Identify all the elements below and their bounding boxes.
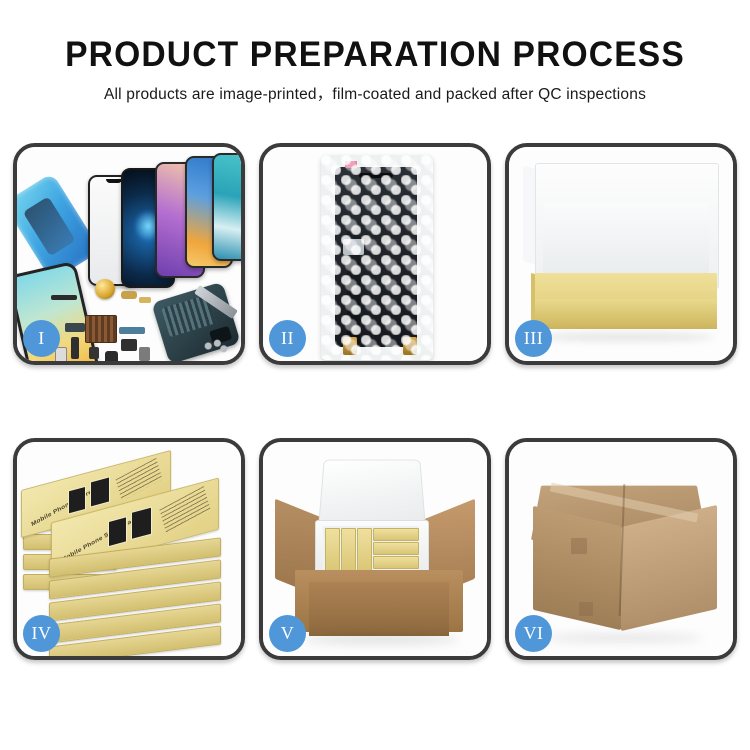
inner-box-2 [341, 528, 356, 574]
flex-cable-small [139, 297, 151, 303]
small-part-a [89, 347, 99, 359]
box-window-rear-2 [90, 476, 110, 507]
carton-front-face [309, 582, 449, 636]
bubble-highlight-texture [321, 155, 433, 360]
screws-group [203, 339, 229, 353]
small-part-b [105, 351, 118, 361]
step-badge-2: II [269, 320, 306, 357]
poster-root: PRODUCT PREPARATION PROCESS All products… [0, 0, 750, 750]
step-panel-3: III [505, 143, 737, 365]
inner-box-1 [325, 528, 340, 574]
step-badge-6: VI [515, 615, 552, 652]
foam-lid [318, 460, 426, 529]
phone-screen-teal [212, 153, 241, 261]
bubble-wrap-bag [321, 155, 433, 360]
step-badge-4: IV [23, 615, 60, 652]
drop-shadow [543, 634, 703, 642]
inner-box-5 [373, 542, 419, 555]
connector-part [65, 323, 85, 332]
chip-component [85, 315, 117, 343]
carton-tab-upper [571, 538, 587, 554]
foam-sheet [543, 203, 709, 277]
step-panel-1: I [13, 143, 245, 365]
step-panel-4: Mobile Phone Spare Parts Mobile Phone Sp… [13, 438, 245, 660]
box-window-front-1 [108, 516, 127, 547]
drop-shadow [303, 635, 459, 644]
step-badge-5: V [269, 615, 306, 652]
phone-screen-lineup [79, 153, 241, 283]
step-panel-2: II [259, 143, 491, 365]
earpiece-part [51, 295, 77, 300]
page-subtitle: All products are image-printed，film-coat… [0, 83, 750, 107]
drop-shadow [539, 333, 715, 341]
header: PRODUCT PREPARATION PROCESS All products… [0, 0, 750, 107]
yellow-box-front [535, 299, 717, 329]
flex-cable-gold [121, 291, 137, 299]
notch [106, 179, 122, 183]
carton-tab-lower [579, 602, 593, 616]
carton-right-face [621, 505, 717, 631]
step-panel-5: V [259, 438, 491, 660]
box-window-rear-1 [68, 486, 86, 515]
box-window-front-2 [131, 506, 152, 540]
small-part-c [139, 347, 150, 361]
step-panel-6: VI [505, 438, 737, 660]
ribbon-cable-part [119, 327, 145, 334]
inner-box-4 [373, 528, 419, 541]
flex-strip-part [71, 337, 79, 359]
step-badge-1: I [23, 320, 60, 357]
gold-component [95, 279, 115, 299]
box-spec-lines-front [159, 486, 210, 533]
process-step-grid: I II [13, 143, 737, 660]
sim-tray-part [55, 347, 67, 361]
carton-left-face [533, 506, 621, 630]
inner-box-6 [373, 556, 419, 569]
module-part [121, 339, 137, 351]
page-title: PRODUCT PREPARATION PROCESS [15, 34, 735, 76]
step-badge-3: III [515, 320, 552, 357]
inner-box-3 [357, 528, 372, 574]
